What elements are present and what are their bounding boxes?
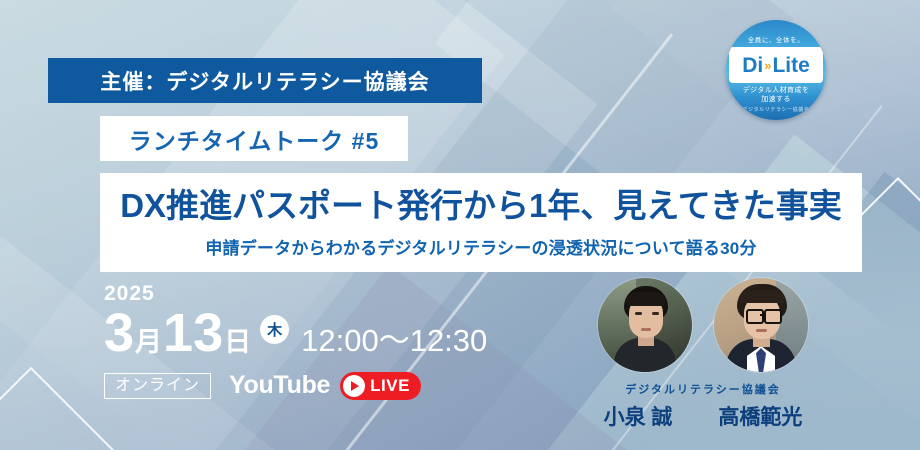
title-box: DX推進パスポート発行から1年、見えてきた事実 申請データからわかるデジタルリテ… [100, 173, 862, 272]
event-month-number: 3 [104, 306, 134, 360]
speaker-photo-row [578, 278, 828, 372]
event-date-block: 2025 3 月 13 日 木 12:00〜12:30 [104, 283, 487, 360]
page-title: DX推進パスポート発行から1年、見えてきた事実 [120, 188, 842, 224]
webinar-banner: 主催：デジタルリテラシー協議会 ランチタイムトーク #5 DX推進パスポート発行… [0, 0, 920, 450]
event-time: 12:00〜12:30 [301, 325, 487, 356]
speaker-name-1: 小泉 誠 [604, 401, 673, 431]
page-subtitle: 申請データからわかるデジタルリテラシーの浸透状況について語る30分 [205, 234, 756, 259]
event-weekday-badge: 木 [260, 315, 289, 344]
speakers-section: デジタルリテラシー協議会 小泉 誠 高橋範光 [578, 278, 828, 431]
event-date-row: 3 月 13 日 木 12:00〜12:30 [104, 306, 487, 360]
event-month-unit: 月 [135, 329, 162, 356]
badge-logo-band: Di » Lite [729, 47, 823, 83]
series-box: ランチタイムトーク #5 [100, 116, 408, 161]
channel-row: オンライン YouTube LIVE [104, 371, 421, 400]
speaker-name-2: 高橋範光 [718, 401, 802, 431]
badge-arc-text: デジタルリテラシー協議会 [726, 106, 826, 113]
dilite-logo-di: Di [742, 55, 763, 76]
speaker-photo-koizumi [598, 278, 692, 372]
youtube-live-badge[interactable]: LIVE [340, 372, 421, 400]
online-tag: オンライン [104, 373, 211, 399]
dilite-badge: 全員に、全体を。 Di » Lite デジタル人材育成を加速する デジタルリテラ… [726, 20, 826, 120]
host-bar-label: 主催：デジタルリテラシー協議会 [100, 66, 429, 96]
live-label: LIVE [370, 376, 410, 396]
corner-chevron-bottom-left [0, 367, 117, 450]
speaker-photo-takahashi [714, 278, 808, 372]
series-label: ランチタイムトーク #5 [129, 122, 380, 156]
speaker-organization: デジタルリテラシー協議会 [578, 381, 828, 397]
youtube-label: YouTube [229, 371, 330, 400]
host-bar: 主催：デジタルリテラシー協議会 [48, 58, 482, 103]
event-year: 2025 [104, 283, 487, 304]
speaker-names-row: 小泉 誠 高橋範光 [578, 401, 828, 431]
dilite-logo-chevron-icon: » [764, 59, 771, 72]
badge-subtext: デジタル人材育成を加速する [726, 86, 826, 105]
event-day-unit: 日 [224, 329, 251, 356]
event-day-number: 13 [163, 306, 223, 360]
dilite-logo-lite: Lite [772, 55, 809, 76]
dilite-logo: Di » Lite [742, 55, 810, 76]
play-icon [343, 375, 365, 397]
badge-tagline: 全員に、全体を。 [726, 34, 826, 44]
